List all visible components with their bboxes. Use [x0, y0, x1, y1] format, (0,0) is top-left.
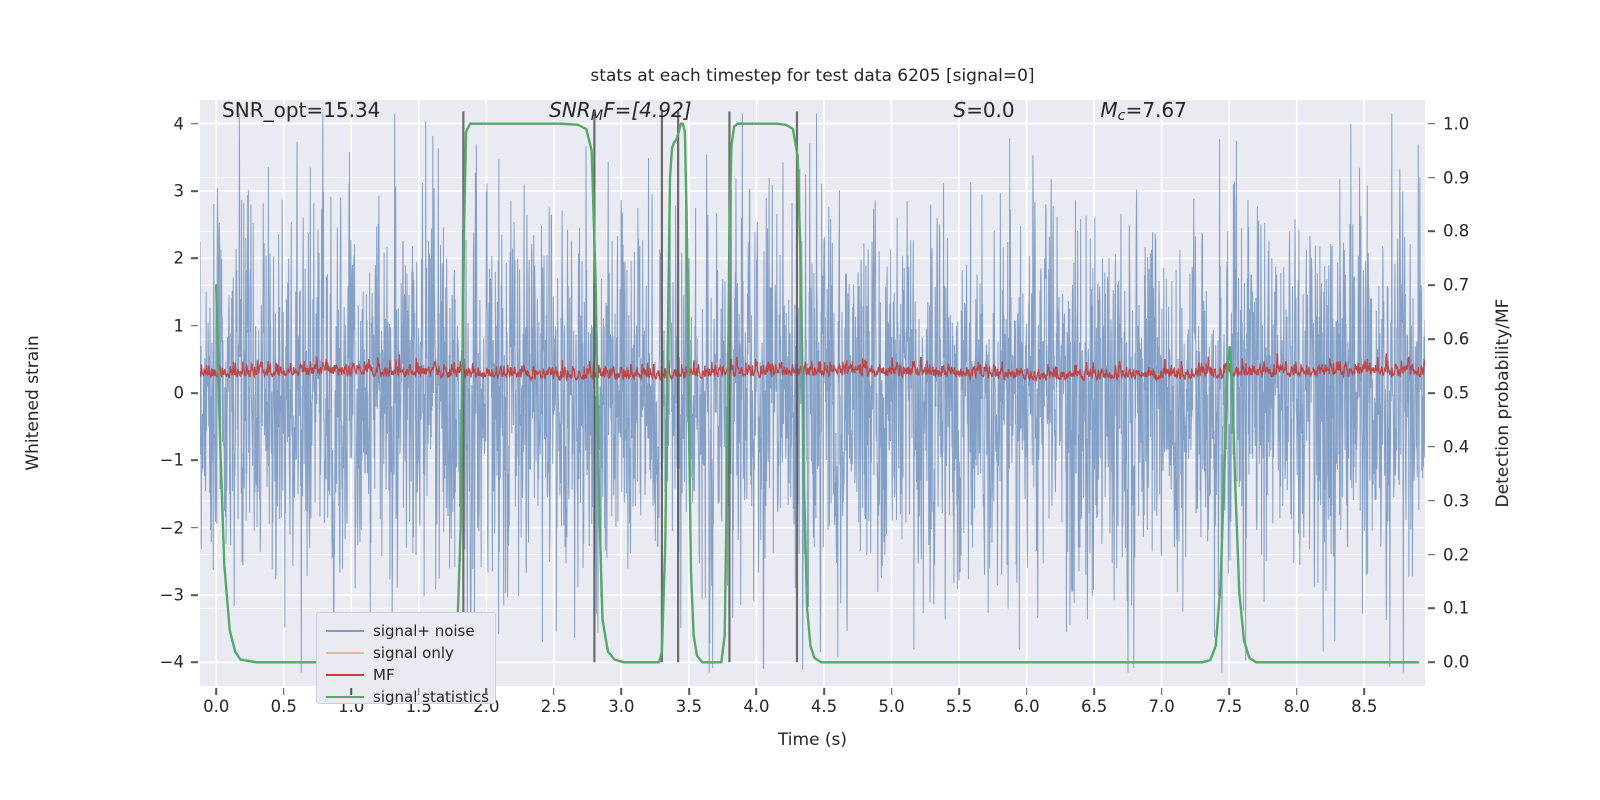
data-layer	[200, 100, 1425, 686]
matplotlib-figure: stats at each timestep for test data 620…	[0, 0, 1600, 800]
annotation-s-value: S=0.0	[953, 98, 1014, 122]
legend-color-swatch	[326, 696, 364, 699]
x-tick-label: 6.0	[1013, 697, 1039, 716]
x-tick-mark	[283, 688, 285, 695]
x-tick-label: 7.5	[1216, 697, 1242, 716]
y-right-tick-mark	[1428, 392, 1435, 394]
x-tick-label: 2.5	[541, 697, 567, 716]
x-tick-mark	[1363, 688, 1365, 695]
y-right-tick-mark	[1428, 284, 1435, 286]
y-left-tick-mark	[191, 123, 198, 125]
x-tick-label: 5.0	[878, 697, 904, 716]
snr-mf-suffix: F=[4.92]	[603, 98, 691, 122]
legend-color-swatch	[326, 652, 364, 655]
y-right-tick-label: 0.6	[1443, 330, 1493, 349]
y-right-tick-label: 0.3	[1443, 491, 1493, 510]
x-tick-mark	[418, 688, 420, 695]
y-left-tick-mark	[191, 190, 198, 192]
legend-color-swatch	[326, 630, 364, 633]
y-right-tick-mark	[1428, 177, 1435, 179]
mc-symbol: M	[1100, 98, 1117, 122]
y-left-tick-label: 1	[142, 316, 184, 335]
x-tick-label: 4.5	[811, 697, 837, 716]
y-right-tick-label: 0.0	[1443, 653, 1493, 672]
mc-value-text: =7.67	[1126, 98, 1187, 122]
x-tick-label: 0.5	[271, 697, 297, 716]
annotation-mc-value: Mc=7.67	[1100, 98, 1186, 124]
x-tick-label: 8.5	[1351, 697, 1377, 716]
y-left-tick-label: −4	[142, 653, 184, 672]
y-right-tick-mark	[1428, 608, 1435, 610]
y-left-tick-mark	[191, 257, 198, 259]
snr-opt-text: SNR_opt=15.34	[222, 98, 380, 122]
x-tick-label: 4.0	[743, 697, 769, 716]
snr-mf-subscript: M	[591, 108, 603, 124]
x-tick-mark	[823, 688, 825, 695]
legend-label: signal only	[373, 644, 454, 662]
x-tick-mark	[1026, 688, 1028, 695]
y-right-tick-label: 0.4	[1443, 437, 1493, 456]
y-right-tick-label: 0.1	[1443, 599, 1493, 618]
y-right-tick-label: 1.0	[1443, 114, 1493, 133]
y-left-tick-mark	[191, 392, 198, 394]
x-tick-mark	[486, 688, 488, 695]
mc-subscript: c	[1118, 108, 1126, 124]
x-tick-mark	[553, 688, 555, 695]
y-left-tick-label: 3	[142, 181, 184, 200]
y-left-tick-label: 0	[142, 384, 184, 403]
y-axis-right-title: Detection probability/MF	[1493, 223, 1513, 583]
legend-item[interactable]: signal+ noise	[326, 620, 486, 642]
s-value-text: =0.0	[966, 98, 1015, 122]
y-right-tick-label: 0.7	[1443, 276, 1493, 295]
y-right-tick-mark	[1428, 446, 1435, 448]
y-axis-left-title: Whitened strain	[23, 223, 43, 583]
legend-color-swatch	[326, 674, 364, 677]
y-left-tick-mark	[191, 662, 198, 664]
x-tick-mark	[621, 688, 623, 695]
legend-label: signal+ noise	[373, 622, 475, 640]
chart-title: stats at each timestep for test data 620…	[200, 66, 1425, 86]
legend-item[interactable]: signal only	[326, 642, 486, 664]
annotation-snr-opt: SNR_opt=15.34	[222, 98, 380, 122]
x-axis-title: Time (s)	[200, 730, 1425, 750]
y-right-tick-mark	[1428, 554, 1435, 556]
plot-axes-area	[200, 100, 1425, 686]
x-tick-mark	[215, 688, 217, 695]
x-tick-mark	[1161, 688, 1163, 695]
y-left-tick-label: −2	[142, 518, 184, 537]
y-left-tick-mark	[191, 594, 198, 596]
y-right-tick-label: 0.9	[1443, 168, 1493, 187]
y-left-tick-mark	[191, 527, 198, 529]
x-tick-label: 7.0	[1149, 697, 1175, 716]
legend-item[interactable]: MF	[326, 664, 486, 686]
x-tick-mark	[891, 688, 893, 695]
y-right-tick-mark	[1428, 123, 1435, 125]
x-tick-mark	[688, 688, 690, 695]
x-tick-label: 6.5	[1081, 697, 1107, 716]
x-tick-mark	[1228, 688, 1230, 695]
y-right-tick-mark	[1428, 500, 1435, 502]
x-tick-label: 3.0	[608, 697, 634, 716]
x-tick-mark	[958, 688, 960, 695]
x-tick-label: 3.5	[676, 697, 702, 716]
x-tick-label: 0.0	[203, 697, 229, 716]
s-symbol: S	[953, 98, 966, 122]
snr-mf-prefix: SNR	[549, 98, 591, 122]
y-left-tick-mark	[191, 460, 198, 462]
y-left-tick-mark	[191, 325, 198, 327]
y-right-tick-mark	[1428, 338, 1435, 340]
x-tick-mark	[350, 688, 352, 695]
x-tick-label: 5.5	[946, 697, 972, 716]
y-right-tick-label: 0.2	[1443, 545, 1493, 564]
x-tick-mark	[1093, 688, 1095, 695]
y-left-tick-label: −3	[142, 586, 184, 605]
y-right-tick-label: 0.5	[1443, 384, 1493, 403]
y-left-tick-label: 4	[142, 114, 184, 133]
y-left-tick-label: −1	[142, 451, 184, 470]
legend-label: MF	[373, 666, 395, 684]
legend: signal+ noisesignal onlyMFsignal statist…	[316, 612, 496, 704]
y-left-tick-label: 2	[142, 249, 184, 268]
y-right-tick-label: 0.8	[1443, 222, 1493, 241]
x-tick-mark	[1296, 688, 1298, 695]
y-right-tick-mark	[1428, 662, 1435, 664]
x-tick-mark	[756, 688, 758, 695]
y-right-tick-mark	[1428, 231, 1435, 233]
annotation-snr-mf: SNRMF=[4.92]	[549, 98, 691, 124]
legend-label: signal statistics	[373, 688, 489, 706]
x-tick-label: 8.0	[1284, 697, 1310, 716]
